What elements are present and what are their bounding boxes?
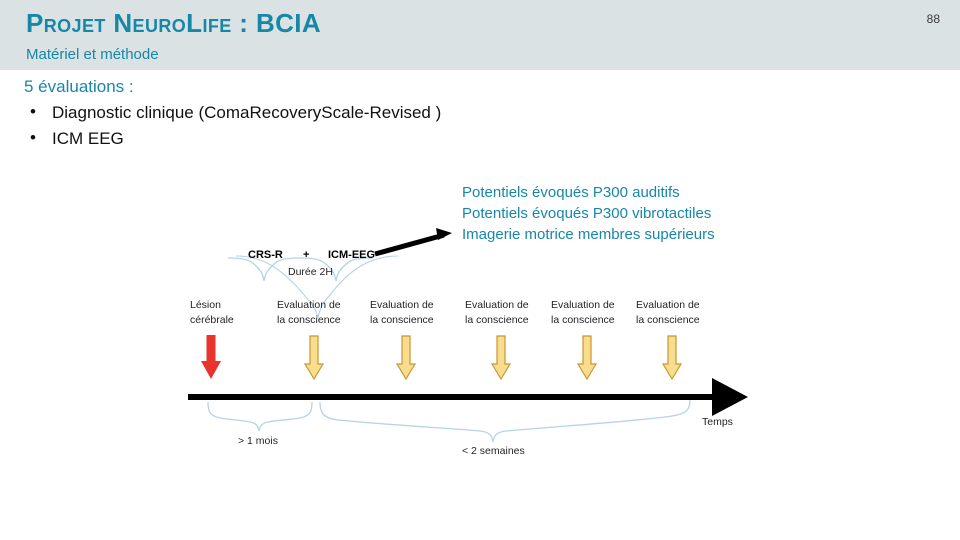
yellow-down-arrow-icon bbox=[578, 336, 596, 379]
lead-text: 5 évaluations : bbox=[24, 77, 134, 97]
protocol-duration-label: Durée 2H bbox=[288, 266, 333, 278]
event-label-line2: la conscience bbox=[277, 314, 341, 326]
event-label-line2: la conscience bbox=[636, 314, 700, 326]
event-label: Lésion cérébrale bbox=[190, 299, 234, 326]
bracket-2-semaines bbox=[320, 400, 690, 442]
protocol-left-label: CRS-R bbox=[248, 249, 283, 261]
timeline-axis bbox=[188, 378, 748, 416]
list-item: • Diagnostic clinique (ComaRecoveryScale… bbox=[26, 100, 726, 126]
bracket-1-mois bbox=[208, 402, 312, 431]
event-label-line2: la conscience bbox=[370, 314, 434, 326]
event-label-line1: Evaluation de bbox=[277, 299, 341, 311]
slide-number: 88 bbox=[927, 12, 940, 26]
callout-pointer-arrow bbox=[375, 228, 452, 254]
protocol-plus-label: + bbox=[303, 249, 309, 261]
event-label-line1: Evaluation de bbox=[551, 299, 615, 311]
event-label-line2: cérébrale bbox=[190, 314, 234, 326]
event-label-line1: Evaluation de bbox=[370, 299, 434, 311]
page-subtitle: Matériel et méthode bbox=[26, 46, 159, 63]
bullet-glyph: • bbox=[30, 99, 36, 125]
timeline-diagram: CRS-R + ICM-EEG Durée 2H Lésion cérébral… bbox=[0, 150, 960, 480]
event-label: Evaluation de la conscience bbox=[551, 299, 615, 326]
event-label: Evaluation de la conscience bbox=[465, 299, 529, 326]
yellow-down-arrow-icon bbox=[492, 336, 510, 379]
event-label-line2: la conscience bbox=[465, 314, 529, 326]
event-label: Evaluation de la conscience bbox=[636, 299, 700, 326]
event-label-line1: Lésion bbox=[190, 299, 221, 311]
protocol-right-label: ICM-EEG bbox=[328, 249, 375, 261]
event-label-line2: la conscience bbox=[551, 314, 615, 326]
bracket-label-1-mois: > 1 mois bbox=[238, 435, 278, 447]
event-label: Evaluation de la conscience bbox=[370, 299, 434, 326]
axis-label-temps: Temps bbox=[702, 416, 733, 428]
list-item-label: ICM EEG bbox=[52, 129, 124, 148]
bullet-glyph: • bbox=[30, 125, 36, 151]
event-label-line1: Evaluation de bbox=[465, 299, 529, 311]
yellow-down-arrow-icon bbox=[305, 336, 323, 379]
bullet-list: • Diagnostic clinique (ComaRecoveryScale… bbox=[26, 100, 726, 152]
event-label-line1: Evaluation de bbox=[636, 299, 700, 311]
yellow-down-arrow-icon bbox=[397, 336, 415, 379]
page-title: Projet NeuroLife : BCIA bbox=[26, 8, 321, 39]
red-down-arrow-icon bbox=[201, 335, 221, 379]
list-item-label: Diagnostic clinique (ComaRecoveryScale-R… bbox=[52, 103, 441, 122]
event-label: Evaluation de la conscience bbox=[277, 299, 341, 326]
slide: Projet NeuroLife : BCIA Matériel et méth… bbox=[0, 0, 960, 540]
bracket-label-2-semaines: < 2 semaines bbox=[462, 445, 525, 457]
yellow-down-arrow-icon bbox=[663, 336, 681, 379]
list-item: • ICM EEG bbox=[26, 126, 726, 152]
